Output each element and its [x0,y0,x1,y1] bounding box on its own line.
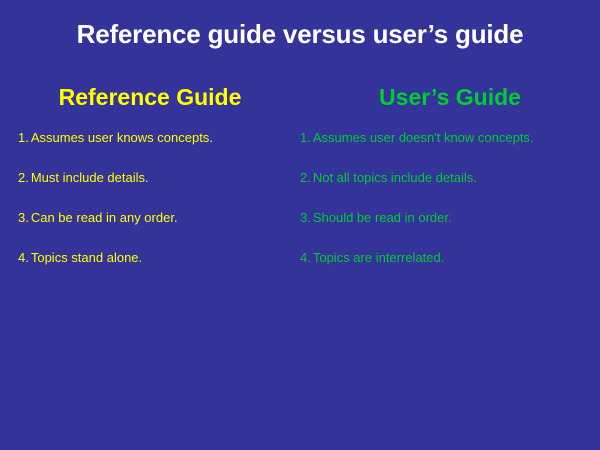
list-item-number: 3. [300,210,311,226]
page-title: Reference guide versus user’s guide [0,19,600,49]
list-item-label: Must include details. [31,170,149,185]
list-item: 3.Should be read in order. [300,210,600,250]
column-list-users-guide: 1.Assumes user doesn't know concepts. 2.… [300,130,600,290]
list-item: 4.Topics stand alone. [18,250,318,290]
list-item-label: Topics are interrelated. [313,250,445,265]
list-item: 4.Topics are interrelated. [300,250,600,290]
slide-canvas: Reference guide versus user’s guide Refe… [0,0,600,450]
list-item-label: Assumes user knows concepts. [31,130,213,145]
list-item-label: Should be read in order. [313,210,452,225]
list-item-label: Topics stand alone. [31,250,142,265]
list-item-number: 4. [18,250,29,266]
list-item-label: Not all topics include details. [313,170,477,185]
column-list-reference-guide: 1.Assumes user knows concepts. 2.Must in… [18,130,318,290]
column-users-guide: User’s Guide 1.Assumes user doesn't know… [300,84,600,294]
list-item-number: 3. [18,210,29,226]
list-item-number: 1. [300,130,311,146]
column-reference-guide: Reference Guide 1.Assumes user knows con… [0,84,300,294]
list-item-label: Assumes user doesn't know concepts. [313,130,534,145]
list-item: 2.Not all topics include details. [300,170,600,210]
list-item: 2.Must include details. [18,170,318,210]
column-header-reference-guide: Reference Guide [0,84,300,111]
list-item-number: 2. [300,170,311,186]
list-item-label: Can be read in any order. [31,210,178,225]
list-item-number: 1. [18,130,29,146]
comparison-columns: Reference Guide 1.Assumes user knows con… [0,84,600,294]
list-item: 3.Can be read in any order. [18,210,318,250]
list-item-number: 4. [300,250,311,266]
list-item: 1.Assumes user doesn't know concepts. [300,130,600,170]
list-item: 1.Assumes user knows concepts. [18,130,318,170]
column-header-users-guide: User’s Guide [300,84,600,111]
list-item-number: 2. [18,170,29,186]
